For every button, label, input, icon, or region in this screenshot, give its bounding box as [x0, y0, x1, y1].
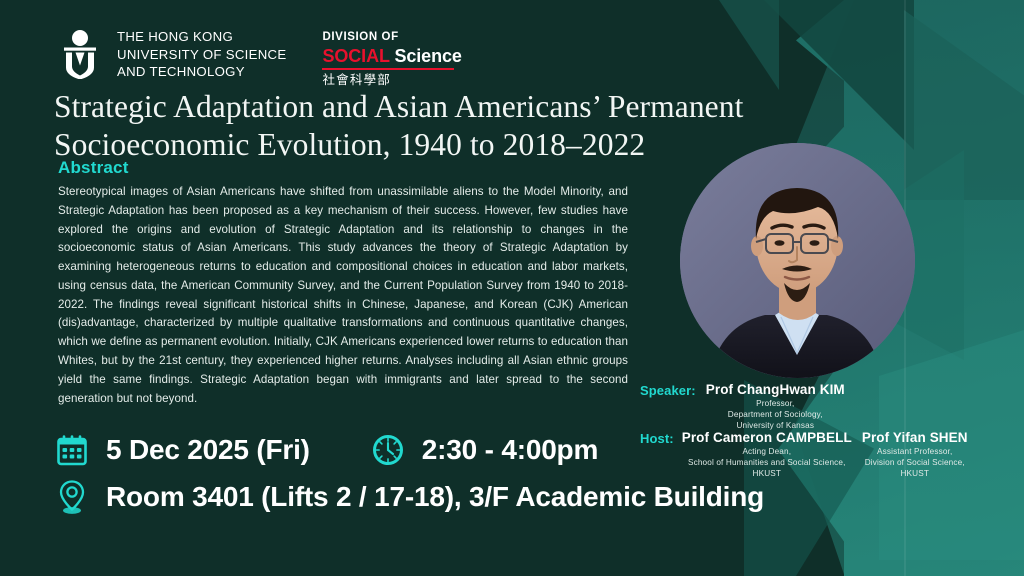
division-underline — [322, 68, 454, 70]
abstract-heading: Abstract — [58, 158, 628, 178]
speaker-aff-line-1: Professor, — [706, 399, 845, 410]
geometric-facet — [719, 0, 779, 90]
hkust-emblem-icon — [56, 29, 104, 79]
host-item: Prof Cameron CAMPBELL Acting Dean, Schoo… — [682, 430, 852, 480]
speaker-details: Prof ChangHwan KIM Professor, Department… — [706, 382, 845, 432]
host-block: Host: Prof Cameron CAMPBELL Acting Dean,… — [640, 430, 968, 480]
abstract-text: Stereotypical images of Asian Americans … — [58, 183, 628, 408]
division-social-word: SOCIAL — [322, 46, 389, 66]
division-science-word: Science — [394, 46, 461, 66]
speaker-name: Prof ChangHwan KIM — [706, 382, 845, 399]
host-name: Prof Yifan SHEN — [862, 430, 968, 447]
venue-row: Room 3401 (Lifts 2 / 17-18), 3/F Academi… — [52, 477, 764, 517]
seminar-title: Strategic Adaptation and Asian Americans… — [54, 88, 814, 165]
event-time: 2:30 - 4:00pm — [422, 434, 598, 466]
host-aff-line-1: Assistant Professor, — [862, 447, 968, 458]
host-aff-line-1: Acting Dean, — [682, 447, 852, 458]
calendar-icon — [52, 430, 92, 470]
host-label: Host: — [640, 430, 674, 446]
host-aff-line-3: HKUST — [682, 469, 852, 480]
header-logos: THE HONG KONG UNIVERSITY OF SCIENCE AND … — [56, 28, 462, 89]
speaker-affiliation: Professor, Department of Sociology, Univ… — [706, 399, 845, 432]
speaker-block: Speaker: Prof ChangHwan KIM Professor, D… — [640, 382, 845, 432]
speaker-aff-line-2: Department of Sociology, — [706, 410, 845, 421]
event-date: 5 Dec 2025 (Fri) — [106, 434, 310, 466]
host-affiliation: Acting Dean, School of Humanities and So… — [682, 447, 852, 480]
host-aff-line-2: Division of Social Science, — [862, 458, 968, 469]
hkust-line-3: AND TECHNOLOGY — [117, 63, 286, 81]
hkust-logo: THE HONG KONG UNIVERSITY OF SCIENCE AND … — [56, 28, 286, 81]
division-of-social-science-logo: DIVISION OF SOCIAL Science 社會科學部 — [322, 28, 461, 89]
speaker-photo — [680, 143, 915, 378]
division-chinese-name: 社會科學部 — [322, 72, 461, 88]
hkust-line-1: THE HONG KONG — [117, 28, 286, 46]
location-pin-icon — [52, 477, 92, 517]
abstract-section: Abstract Stereotypical images of Asian A… — [58, 158, 628, 408]
host-name: Prof Cameron CAMPBELL — [682, 430, 852, 447]
division-title: SOCIAL Science — [322, 45, 461, 68]
hkust-wordmark: THE HONG KONG UNIVERSITY OF SCIENCE AND … — [117, 28, 286, 81]
hkust-line-2: UNIVERSITY OF SCIENCE — [117, 46, 286, 64]
event-venue: Room 3401 (Lifts 2 / 17-18), 3/F Academi… — [106, 481, 764, 513]
host-item: Prof Yifan SHEN Assistant Professor, Div… — [862, 430, 968, 480]
speaker-label: Speaker: — [640, 382, 696, 398]
host-aff-line-2: School of Humanities and Social Science, — [682, 458, 852, 469]
clock-icon — [368, 430, 408, 470]
speaker-portrait — [680, 143, 915, 378]
host-list: Prof Cameron CAMPBELL Acting Dean, Schoo… — [682, 430, 968, 480]
host-affiliation: Assistant Professor, Division of Social … — [862, 447, 968, 480]
division-label: DIVISION OF — [322, 31, 461, 45]
host-aff-line-3: HKUST — [862, 469, 968, 480]
